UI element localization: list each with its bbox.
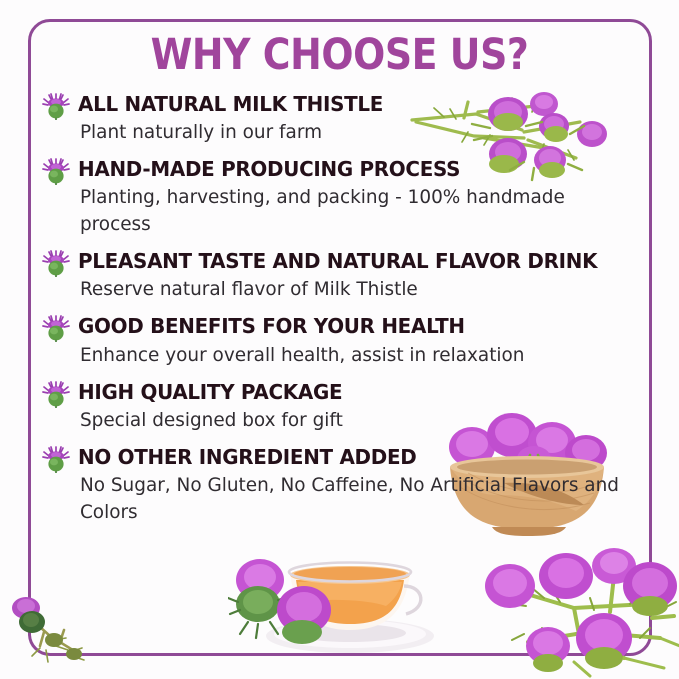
feature-description: Plant naturally in our farm — [78, 119, 623, 146]
thistle-bullet-icon — [42, 249, 70, 277]
thistle-sprig-corner-bottom-left — [10, 590, 92, 666]
feature-description: Planting, harvesting, and packing - 100%… — [78, 184, 623, 238]
thistle-bullet-icon — [42, 314, 70, 342]
feature-item: PLEASANT TASTE AND NATURAL FLAVOR DRINK … — [42, 249, 642, 303]
feature-description: Enhance your overall health, assist in r… — [78, 342, 623, 369]
feature-description: Reserve natural flavor of Milk Thistle — [78, 276, 623, 303]
page-title: WHY CHOOSE US? — [41, 33, 639, 78]
thistle-bullet-icon — [42, 445, 70, 473]
why-choose-us-poster: WHY CHOOSE US? ALL N — [0, 0, 679, 679]
feature-description: Special designed box for gift — [78, 407, 623, 434]
feature-heading: HAND-MADE PRODUCING PROCESS — [78, 157, 625, 181]
feature-item: NO OTHER INGREDIENT ADDED No Sugar, No G… — [42, 445, 642, 526]
feature-item: GOOD BENEFITS FOR YOUR HEALTH Enhance yo… — [42, 314, 642, 368]
feature-item: ALL NATURAL MILK THISTLE Plant naturally… — [42, 92, 642, 146]
feature-list: ALL NATURAL MILK THISTLE Plant naturally… — [42, 92, 642, 537]
feature-heading: PLEASANT TASTE AND NATURAL FLAVOR DRINK — [78, 249, 625, 273]
feature-heading: ALL NATURAL MILK THISTLE — [78, 92, 625, 116]
thistle-bullet-icon — [42, 92, 70, 120]
feature-heading: HIGH QUALITY PACKAGE — [78, 380, 625, 404]
feature-item: HIGH QUALITY PACKAGE Special designed bo… — [42, 380, 642, 434]
thistle-bullet-icon — [42, 157, 70, 185]
thistle-cluster-photo-bottom-right — [464, 546, 679, 679]
thistle-tea-cup-photo — [228, 548, 440, 654]
thistle-bullet-icon — [42, 380, 70, 408]
feature-heading: NO OTHER INGREDIENT ADDED — [78, 445, 625, 469]
feature-description: No Sugar, No Gluten, No Caffeine, No Art… — [78, 472, 623, 526]
feature-heading: GOOD BENEFITS FOR YOUR HEALTH — [78, 314, 625, 338]
feature-item: HAND-MADE PRODUCING PROCESS Planting, ha… — [42, 157, 642, 238]
